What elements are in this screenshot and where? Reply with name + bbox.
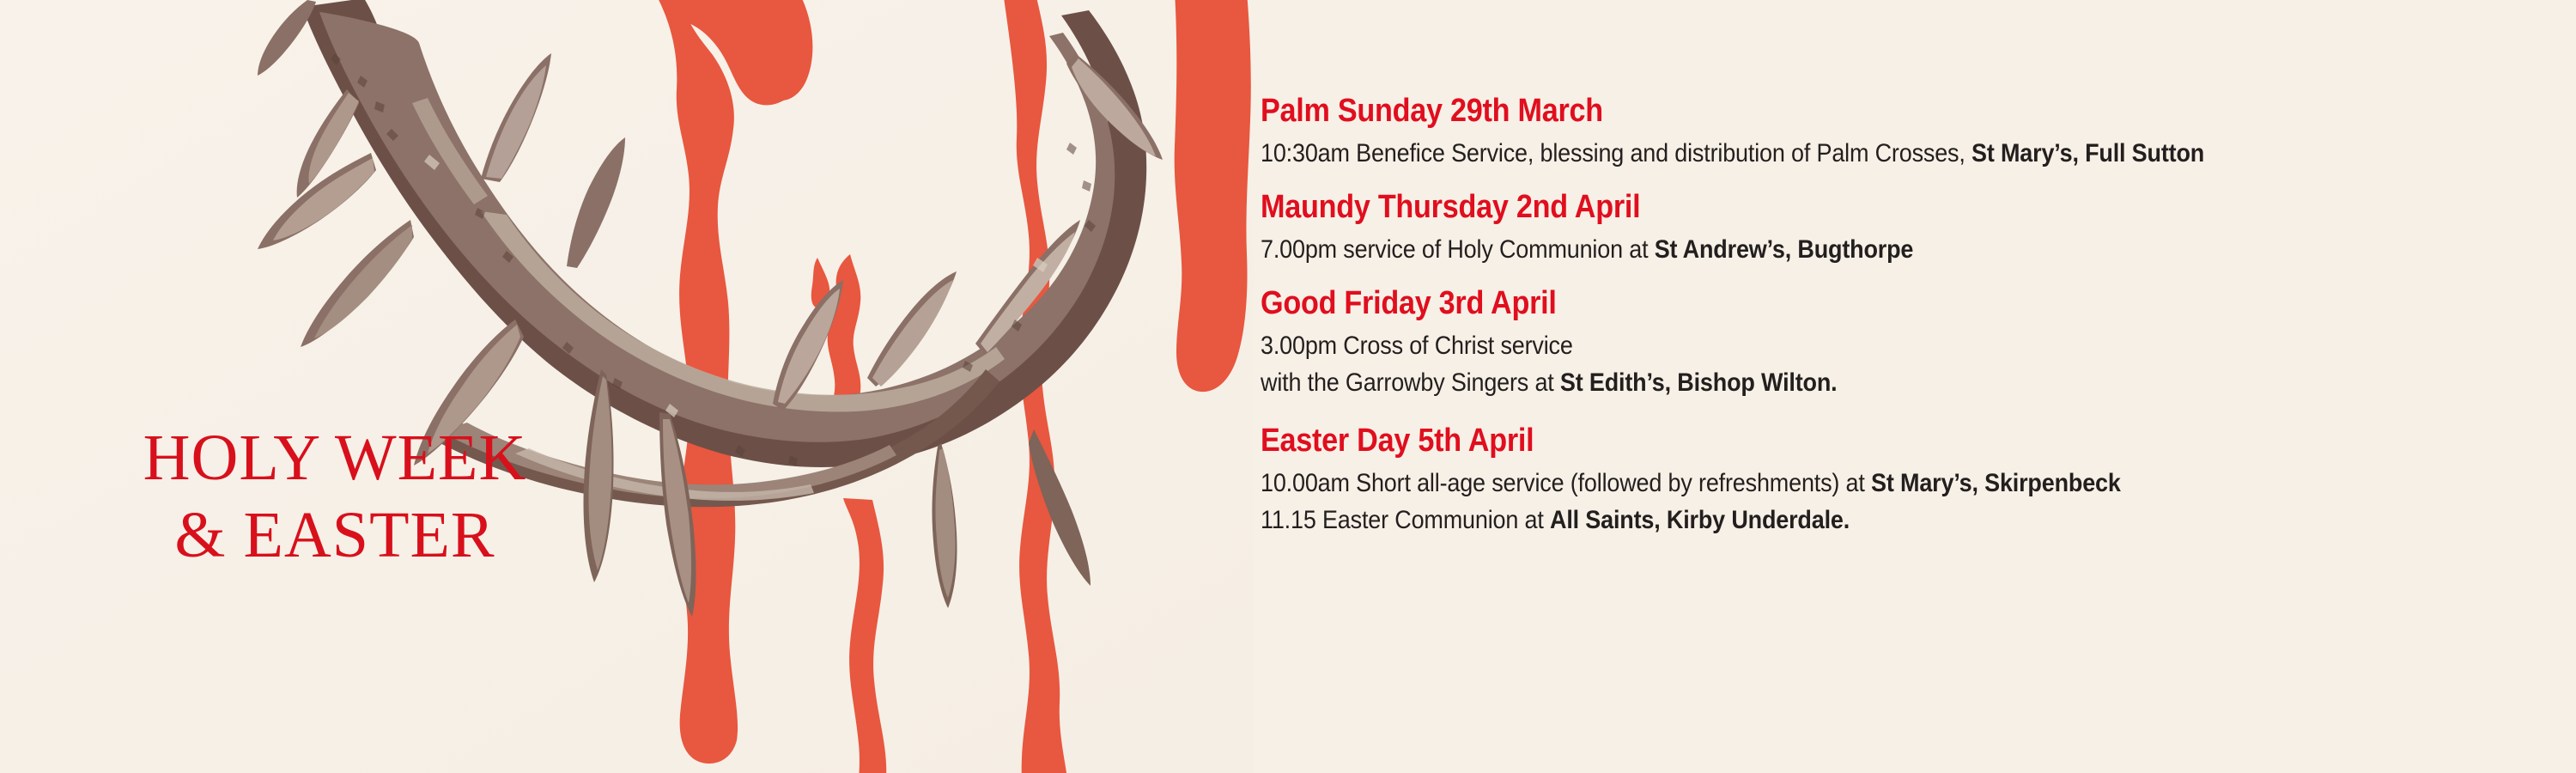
event-detail-text: with the Garrowby Singers at [1261, 368, 1560, 397]
title-line-1: HOLY WEEK [26, 425, 644, 490]
page-title: HOLY WEEK & EASTER [26, 425, 644, 568]
event-venue: All Saints, Kirby Underdale. [1550, 506, 1850, 534]
service-schedule-list: Palm Sunday 29th March10:30am Benefice S… [1261, 93, 2549, 538]
event-venue: St Mary’s, Skirpenbeck [1871, 469, 2121, 497]
title-line-2: & EASTER [26, 502, 644, 568]
event-detail-text: 3.00pm Cross of Christ service [1261, 332, 1573, 360]
event-detail-line: with the Garrowby Singers at St Edith’s,… [1261, 366, 2420, 400]
event-heading: Palm Sunday 29th March [1261, 93, 2420, 130]
event-detail-text: 7.00pm service of Holy Communion at [1261, 235, 1655, 264]
event-heading: Maundy Thursday 2nd April [1261, 189, 2420, 226]
holy-week-easter-poster: HOLY WEEK & EASTER Palm Sunday 29th Marc… [0, 0, 2576, 773]
event-heading: Good Friday 3rd April [1261, 285, 2420, 322]
service-event: Maundy Thursday 2nd April7.00pm service … [1261, 189, 2549, 266]
event-detail-text: 10.00am Short all-age service (followed … [1261, 469, 1871, 497]
service-event: Easter Day 5th April10.00am Short all-ag… [1261, 423, 2549, 538]
event-venue: St Edith’s, Bishop Wilton. [1560, 368, 1838, 397]
service-event: Good Friday 3rd April3.00pm Cross of Chr… [1261, 285, 2549, 400]
crown-of-thorns-artwork [0, 0, 1254, 773]
event-heading: Easter Day 5th April [1261, 423, 2420, 460]
event-detail-line: 10.00am Short all-age service (followed … [1261, 466, 2420, 501]
event-detail-line: 11.15 Easter Communion at All Saints, Ki… [1261, 503, 2420, 538]
service-event: Palm Sunday 29th March10:30am Benefice S… [1261, 93, 2549, 170]
event-venue: St Mary’s, Full Sutton [1971, 139, 2204, 167]
event-detail-text: 10:30am Benefice Service, blessing and d… [1261, 139, 1971, 167]
event-detail-line: 10:30am Benefice Service, blessing and d… [1261, 137, 2420, 171]
event-detail-line: 3.00pm Cross of Christ service [1261, 329, 2420, 363]
event-detail-text: 11.15 Easter Communion at [1261, 506, 1550, 534]
event-venue: St Andrew’s, Bugthorpe [1655, 235, 1914, 264]
event-detail-line: 7.00pm service of Holy Communion at St A… [1261, 233, 2420, 267]
